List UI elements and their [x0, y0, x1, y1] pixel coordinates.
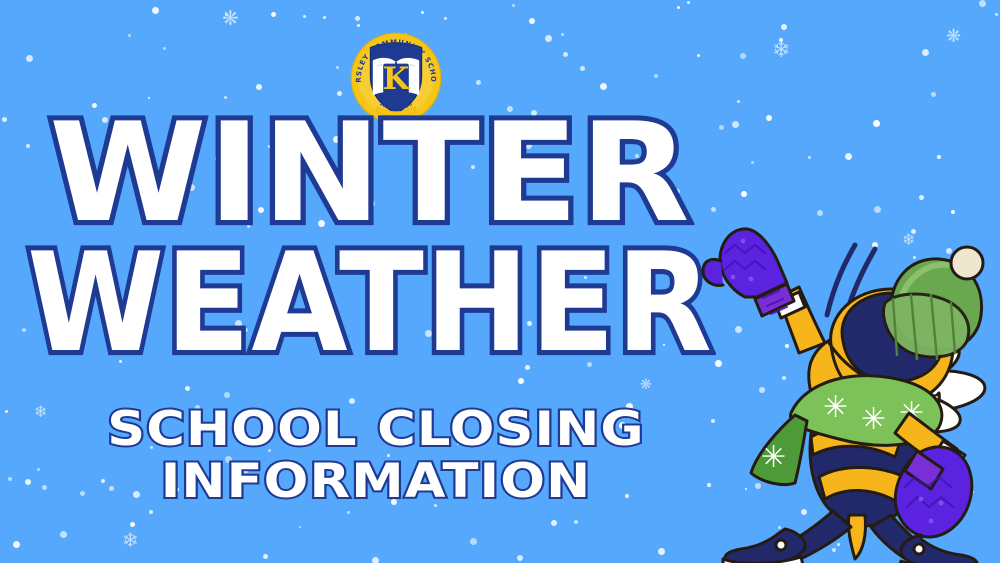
snow-dot	[299, 526, 301, 528]
snow-dot	[185, 386, 190, 391]
snow-dot	[130, 522, 135, 527]
right-skate	[899, 535, 979, 563]
headline-line-weather: WEATHER	[0, 226, 747, 381]
subtitle-school-closing-information: SCHOOL CLOSING INFORMATION	[0, 404, 797, 508]
snowflake-glyph: ❄	[772, 40, 790, 62]
snow-dot	[26, 55, 33, 62]
snow-dot	[224, 392, 230, 398]
snow-dot	[687, 1, 690, 4]
snow-dot	[563, 52, 568, 57]
snow-dot	[128, 34, 131, 37]
snow-dot	[336, 66, 339, 69]
snow-dot	[271, 12, 276, 17]
snow-dot	[808, 156, 811, 159]
hornet-mascot-icon: ✳ ✳ ✳ ✳	[695, 215, 1000, 563]
snow-dot	[355, 16, 360, 21]
left-mitten	[703, 229, 794, 316]
snow-dot	[256, 84, 262, 90]
snow-dot	[421, 11, 424, 14]
snow-dot	[13, 541, 20, 548]
snow-dot	[357, 24, 360, 27]
snow-dot	[979, 0, 986, 7]
left-skate	[723, 529, 805, 563]
scarf-snowflake-4: ✳	[761, 440, 786, 475]
snow-dot	[995, 13, 998, 16]
snow-dot	[737, 100, 740, 103]
scarf-snowflake-2: ✳	[861, 402, 886, 437]
snow-dot	[845, 153, 852, 160]
snow-dot	[677, 6, 680, 9]
snow-dot	[323, 16, 326, 19]
snow-dot	[529, 18, 535, 24]
snow-dot	[263, 554, 268, 559]
hat-pom-pom	[951, 247, 983, 279]
snow-dot	[551, 520, 557, 526]
snow-dot	[873, 120, 880, 127]
snow-dot	[444, 17, 447, 20]
snow-dot	[580, 66, 585, 71]
beanie-hat	[883, 247, 983, 359]
snow-dot	[874, 206, 881, 213]
snow-dot	[600, 83, 607, 90]
snowflake-glyph: ❄	[122, 530, 139, 550]
snow-dot	[517, 555, 523, 561]
headline-block: WINTER WEATHER	[0, 112, 740, 372]
snow-dot	[303, 15, 306, 18]
snow-dot	[470, 538, 477, 545]
snowflake-glyph: ❋	[946, 28, 961, 46]
snow-dot	[922, 49, 929, 56]
snow-dot	[545, 35, 552, 42]
snow-dot	[574, 520, 578, 524]
snow-dot	[347, 511, 350, 514]
snow-dot	[697, 54, 700, 57]
snow-dot	[781, 24, 787, 30]
snow-dot	[654, 74, 658, 78]
snow-dot	[658, 548, 665, 555]
snow-dot	[152, 7, 159, 14]
snow-dot	[740, 53, 746, 59]
snow-dot	[779, 38, 783, 42]
snow-dot	[951, 210, 955, 214]
snow-dot	[163, 47, 166, 50]
headline-line-winter: WINTER	[0, 105, 803, 242]
snow-dot	[149, 510, 153, 514]
snow-dot	[372, 557, 379, 563]
snow-dot	[512, 4, 515, 7]
snow-dot	[561, 33, 564, 36]
snow-dot	[919, 195, 924, 200]
stinger	[848, 515, 865, 559]
snowflake-glyph: ❋	[222, 8, 239, 28]
snow-dot	[225, 14, 227, 16]
scarf-snowflake-1: ✳	[823, 390, 848, 425]
winter-weather-poster: ❋❄❋❄❋❄❋❄❋ K KEARSLEY COMMUNITY SCHOOLS	[0, 0, 1000, 563]
snow-dot	[476, 80, 481, 85]
logo-monogram: K	[383, 61, 411, 97]
snow-dot	[60, 531, 67, 538]
snow-dot	[937, 155, 941, 159]
snow-dot	[931, 92, 936, 97]
